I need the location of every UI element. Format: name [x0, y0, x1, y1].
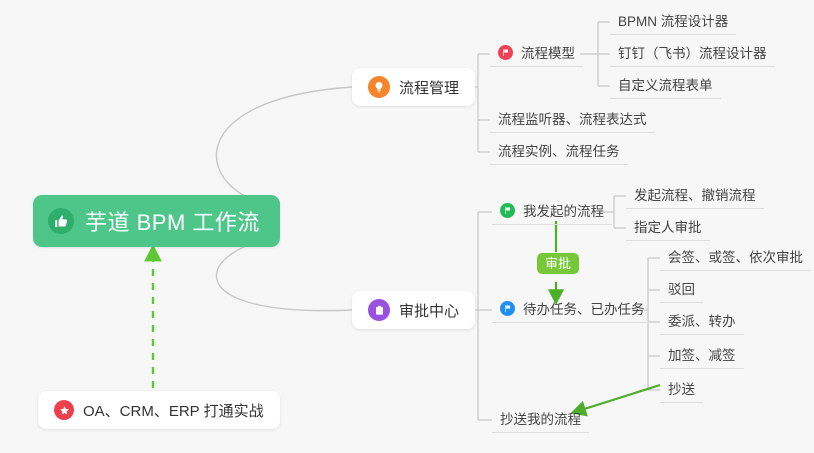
node-process-model[interactable]: 流程模型 — [490, 41, 583, 67]
node-carbon-copy[interactable]: 抄送 — [660, 377, 703, 403]
node-cc-to-me-process-label: 抄送我的流程 — [500, 408, 581, 428]
node-dingtalk-feishu-designer[interactable]: 钉钉（飞书）流程设计器 — [610, 41, 775, 67]
node-countersign-orsign-sequential-label: 会签、或签、依次审批 — [668, 246, 803, 266]
node-oa-crm-erp[interactable]: OA、CRM、ERP 打通实战 — [38, 391, 280, 429]
link-root-to-process-management — [216, 87, 352, 206]
node-start-cancel-process-label: 发起流程、撤销流程 — [634, 184, 756, 204]
node-process-listener-expression[interactable]: 流程监听器、流程表达式 — [490, 107, 655, 133]
clipboard-icon — [368, 299, 390, 321]
approval-pill-label: 审批 — [545, 256, 571, 271]
node-dingtalk-feishu-designer-label: 钉钉（飞书）流程设计器 — [618, 42, 767, 62]
node-process-listener-expression-label: 流程监听器、流程表达式 — [498, 108, 647, 128]
node-start-cancel-process[interactable]: 发起流程、撤销流程 — [626, 183, 764, 209]
node-bpmn-designer-label: BPMN 流程设计器 — [618, 10, 728, 30]
arrow-carbon-copy-to-cc-process — [578, 385, 660, 411]
lightbulb-icon — [368, 76, 390, 98]
node-countersign-orsign-sequential[interactable]: 会签、或签、依次审批 — [660, 245, 811, 271]
node-add-remove-sign[interactable]: 加签、减签 — [660, 343, 744, 369]
flag-icon — [498, 45, 513, 60]
node-process-management[interactable]: 流程管理 — [352, 68, 475, 106]
link-todo-done-tasks-branch — [632, 258, 660, 390]
node-cc-to-me-process[interactable]: 抄送我的流程 — [492, 407, 589, 433]
root-node[interactable]: 芋道 BPM 工作流 — [33, 195, 280, 247]
link-process-model-branch — [580, 22, 610, 86]
node-process-model-label: 流程模型 — [521, 42, 575, 62]
node-assignee-approval[interactable]: 指定人审批 — [626, 215, 710, 241]
node-process-management-label: 流程管理 — [399, 77, 459, 98]
node-approval-center[interactable]: 审批中心 — [352, 291, 475, 329]
node-delegate-transfer-label: 委派、转办 — [668, 310, 736, 330]
flag-icon — [500, 301, 515, 316]
node-add-remove-sign-label: 加签、减签 — [668, 344, 736, 364]
node-reject[interactable]: 驳回 — [660, 277, 703, 303]
node-custom-process-form[interactable]: 自定义流程表单 — [610, 73, 721, 99]
mindmap-canvas: 芋道 BPM 工作流 流程管理 流程模型 BPMN 流程设计器 钉钉（飞书）流程… — [0, 0, 814, 453]
node-process-instance-task-label: 流程实例、流程任务 — [498, 140, 620, 160]
thumbs-up-icon — [48, 208, 74, 234]
node-oa-crm-erp-label: OA、CRM、ERP 打通实战 — [83, 400, 264, 421]
node-custom-process-form-label: 自定义流程表单 — [618, 74, 713, 94]
node-my-started-process-label: 我发起的流程 — [523, 200, 604, 220]
link-root-to-approval-center — [216, 238, 352, 311]
node-reject-label: 驳回 — [668, 278, 695, 298]
node-todo-done-tasks-label: 待办任务、已办任务 — [523, 298, 645, 318]
node-bpmn-designer[interactable]: BPMN 流程设计器 — [610, 9, 736, 35]
node-todo-done-tasks[interactable]: 待办任务、已办任务 — [492, 297, 653, 323]
node-approval-center-label: 审批中心 — [399, 300, 459, 321]
approval-pill-badge: 审批 — [537, 253, 579, 274]
node-process-instance-task[interactable]: 流程实例、流程任务 — [490, 139, 628, 165]
node-assignee-approval-label: 指定人审批 — [634, 216, 702, 236]
node-carbon-copy-label: 抄送 — [668, 378, 695, 398]
root-label: 芋道 BPM 工作流 — [85, 205, 260, 237]
flag-icon — [500, 203, 515, 218]
node-my-started-process[interactable]: 我发起的流程 — [492, 199, 612, 225]
node-delegate-transfer[interactable]: 委派、转办 — [660, 309, 744, 335]
star-icon — [54, 400, 74, 420]
